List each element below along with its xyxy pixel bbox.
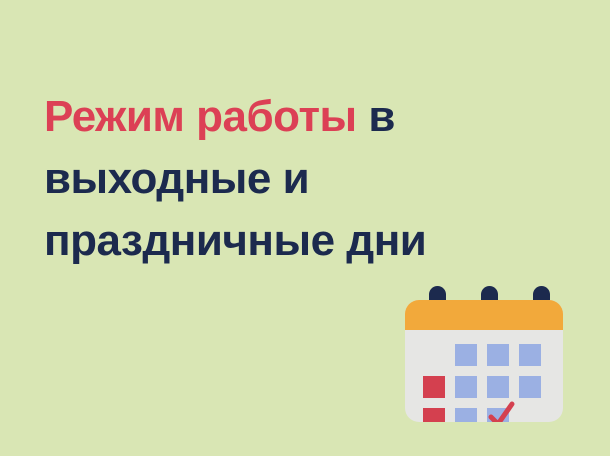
calendar-day-cell [519,344,541,366]
page-title-accent: Режим работы [44,92,357,141]
calendar-holiday-cell [423,376,445,398]
calendar-day-cell [423,344,445,366]
calendar-day-grid [423,344,549,414]
calendar-header-band [405,300,563,330]
checkmark-icon [485,399,517,422]
calendar-day-cell [519,408,541,422]
promo-banner: Режим работы в выходные и праздничные дн… [0,0,610,456]
calendar-card [405,300,563,422]
calendar-day-cell [455,376,477,398]
calendar-selected-day-cell [487,408,509,422]
calendar-holiday-cell [423,408,445,422]
calendar-day-cell [487,376,509,398]
calendar-day-cell [519,376,541,398]
calendar-day-cell [455,408,477,422]
calendar-day-cell [487,344,509,366]
calendar-icon [405,286,563,422]
page-title: Режим работы в выходные и праздничные дн… [44,86,544,272]
calendar-day-cell [455,344,477,366]
